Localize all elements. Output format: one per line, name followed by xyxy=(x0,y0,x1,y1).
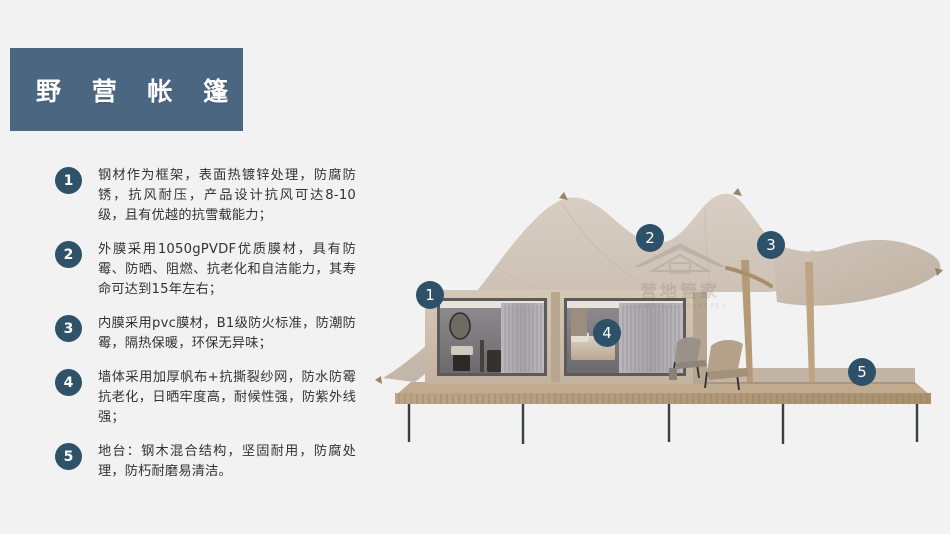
bathroom-cabinet xyxy=(453,355,470,371)
tent-drawing xyxy=(375,150,945,450)
feature-text-1: 钢材作为框架，表面热镀锌处理，防腐防锈，抗风耐压，产品设计抗风可达8-10级，且… xyxy=(98,166,356,226)
list-item: 3 内膜采用pvc膜材，B1级防火标准，防潮防霉，隔热保暖，环保无异味； xyxy=(55,314,375,354)
deck-legs xyxy=(409,404,917,444)
callout-badge-5[interactable]: 5 xyxy=(848,358,876,386)
canopy-right xyxy=(773,240,940,306)
bathroom-mirror xyxy=(450,313,470,339)
list-item: 1 钢材作为框架，表面热镀锌处理，防腐防锈，抗风耐压，产品设计抗风可达8-10级… xyxy=(55,166,375,226)
callout-badge-1[interactable]: 1 xyxy=(416,281,444,309)
window-left-curtain xyxy=(501,303,544,373)
feature-text-5: 地台：钢木混合结构，坚固耐用，防腐处理，防朽耐磨易清洁。 xyxy=(98,442,356,482)
list-item: 4 墙体采用加厚帆布+抗撕裂纱网，防水防霉抗老化，日晒牢度高，耐候性强，防紫外线… xyxy=(55,368,375,428)
callout-badge-2[interactable]: 2 xyxy=(636,224,664,252)
bathroom-fixture xyxy=(480,340,484,372)
bathroom-bin xyxy=(487,350,501,372)
callout-badge-3[interactable]: 3 xyxy=(757,231,785,259)
feature-text-2: 外膜采用1050gPVDF优质膜材，具有防霉、防晒、阻燃、抗老化和自洁能力，其寿… xyxy=(98,240,356,300)
feature-badge-4: 4 xyxy=(55,369,82,396)
feature-badge-5: 5 xyxy=(55,443,82,470)
tent-illustration: 营地管家 CAMP HOUSEKEEPER 1 2 3 4 5 xyxy=(375,150,945,450)
bedroom-nightstand xyxy=(571,308,587,336)
feature-text-4: 墙体采用加厚帆布+抗撕裂纱网，防水防霉抗老化，日晒牢度高，耐候性强，防紫外线强； xyxy=(98,368,356,428)
list-item: 5 地台：钢木混合结构，坚固耐用，防腐处理，防朽耐磨易清洁。 xyxy=(55,442,375,482)
canopy-anchor-right xyxy=(935,268,943,276)
side-table xyxy=(669,368,677,380)
cabin-post-center xyxy=(551,292,560,382)
title-banner: 野 营 帐 篷 xyxy=(10,48,243,131)
feature-text-3: 内膜采用pvc膜材，B1级防火标准，防潮防霉，隔热保暖，环保无异味； xyxy=(98,314,356,354)
feature-list: 1 钢材作为框架，表面热镀锌处理，防腐防锈，抗风耐压，产品设计抗风可达8-10级… xyxy=(55,166,375,482)
canopy-peak-right xyxy=(733,188,742,196)
canopy-anchor-left xyxy=(375,376,382,384)
slide-root: 野 营 帐 篷 1 钢材作为框架，表面热镀锌处理，防腐防锈，抗风耐压，产品设计抗… xyxy=(0,0,950,534)
feature-badge-3: 3 xyxy=(55,315,82,342)
bathroom-basin xyxy=(451,346,473,355)
page-title: 野 营 帐 篷 xyxy=(36,72,239,108)
feature-badge-2: 2 xyxy=(55,241,82,268)
callout-badge-4[interactable]: 4 xyxy=(593,319,621,347)
canopy-peak-left xyxy=(559,192,568,200)
list-item: 2 外膜采用1050gPVDF优质膜材，具有防霉、防晒、阻燃、抗老化和自洁能力，… xyxy=(55,240,375,300)
feature-badge-1: 1 xyxy=(55,167,82,194)
